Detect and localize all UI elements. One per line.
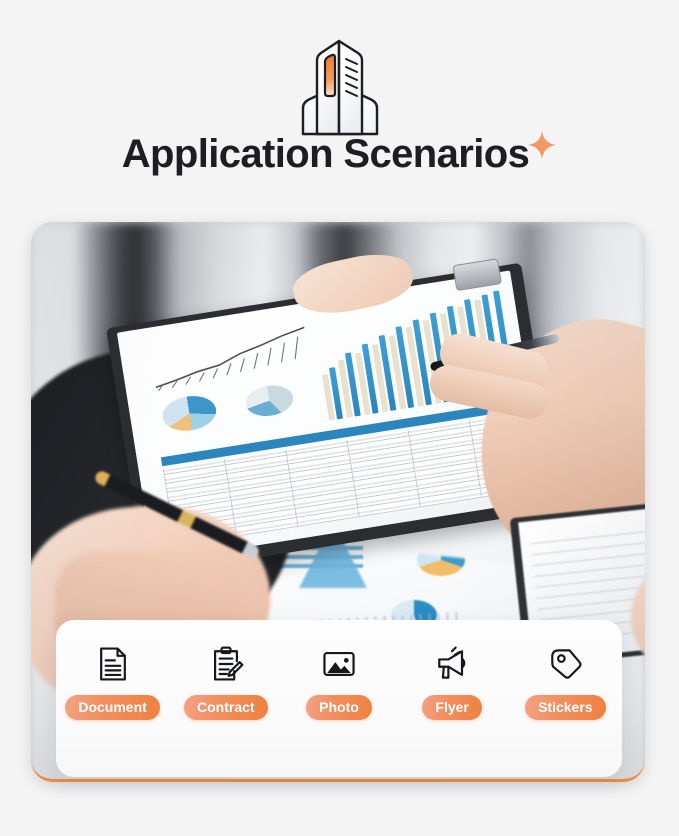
category-badge-photo[interactable]: Photo — [306, 695, 372, 720]
category-item-flyer[interactable]: Flyer — [400, 642, 504, 720]
image-icon — [317, 642, 361, 686]
price-tag-icon — [543, 642, 587, 686]
category-item-contract[interactable]: Contract — [174, 642, 278, 720]
document-icon — [91, 642, 135, 686]
category-badge-stickers[interactable]: Stickers — [525, 695, 605, 720]
application-categories-panel: Document Contract — [56, 620, 622, 777]
page-header: Application Scenarios — [0, 0, 679, 210]
category-badge-flyer[interactable]: Flyer — [422, 695, 481, 720]
application-scenarios-page: Application Scenarios — [0, 0, 679, 836]
category-badge-document[interactable]: Document — [65, 695, 159, 720]
category-item-photo[interactable]: Photo — [287, 642, 391, 720]
page-title: Application Scenarios — [0, 128, 679, 180]
megaphone-icon — [430, 642, 474, 686]
page-title-text: Application Scenarios — [122, 128, 530, 180]
category-list: Document Contract — [56, 642, 622, 720]
category-item-stickers[interactable]: Stickers — [513, 642, 617, 720]
sparkle-star-icon — [527, 130, 557, 160]
building-logo-icon — [281, 38, 399, 138]
category-badge-contract[interactable]: Contract — [184, 695, 268, 720]
category-item-document[interactable]: Document — [61, 642, 165, 720]
clipboard-pencil-icon — [204, 642, 248, 686]
